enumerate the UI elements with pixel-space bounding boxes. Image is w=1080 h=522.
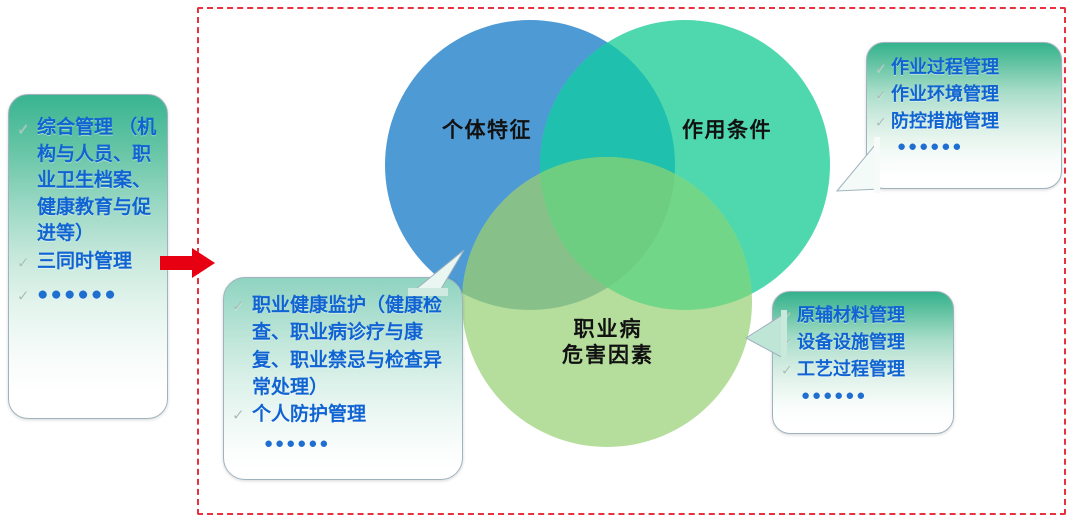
checkmark-icon: ✓	[17, 119, 30, 140]
checkmark-icon: ✓	[781, 360, 793, 381]
checkmark-icon: ✓	[875, 58, 887, 79]
venn-label-hazard: 职业病 危害因素	[533, 317, 683, 370]
callout-list: ✓ 职业健康监护（健康检查、职业病诊疗与康复、职业禁忌与检查异常处理） ✓ 个人…	[224, 278, 462, 454]
list-item: ✓ 职业健康监护（健康检查、职业病诊疗与康复、职业禁忌与检查异常处理）	[232, 292, 454, 401]
callout-comprehensive-management[interactable]: ✓ 综合管理 （机构与人员、职业卫生档案、健康教育与促进等） ✓ 三同时管理 ✓…	[8, 94, 168, 419]
callout-tail-bottomright	[745, 310, 787, 362]
list-item: ✓ 作业环境管理	[875, 81, 1055, 108]
callout-tail-topright	[836, 137, 880, 193]
arrow-right-icon	[160, 246, 216, 280]
callout-list: ✓ 原辅材料管理 ✓ 设备设施管理 ✓ 工艺过程管理 ●●●●●●	[773, 292, 953, 408]
callout-operation-management[interactable]: ✓ 作业过程管理 ✓ 作业环境管理 ✓ 防控措施管理 ●●●●●●	[866, 42, 1062, 189]
list-item: ✓ 设备设施管理	[781, 329, 947, 356]
list-item: ●●●●●●	[232, 433, 454, 455]
list-item: ✓ ●●●●●●	[17, 282, 159, 309]
list-item-label: 职业健康监护（健康检查、职业病诊疗与康复、职业禁忌与检查异常处理）	[252, 295, 442, 398]
callout-list: ✓ 综合管理 （机构与人员、职业卫生档案、健康教育与促进等） ✓ 三同时管理 ✓…	[9, 95, 167, 308]
callout-tail-bottomleft	[408, 250, 468, 296]
ellipsis-dots: ●●●●●●	[264, 435, 330, 452]
venn-label-conditions: 作用条件	[657, 118, 797, 144]
list-item-label: 个人防护管理	[252, 404, 366, 425]
list-item: ✓ 工艺过程管理	[781, 356, 947, 383]
checkmark-icon: ✓	[17, 253, 30, 274]
list-item: ✓ 防控措施管理	[875, 108, 1055, 135]
list-item: ✓ 原辅材料管理	[781, 302, 947, 329]
list-item-label: 设备设施管理	[797, 332, 905, 352]
list-item-label: 作业环境管理	[891, 84, 999, 104]
list-item-label: 综合管理 （机构与人员、职业卫生档案、健康教育与促进等）	[37, 117, 156, 244]
checkmark-icon: ✓	[232, 405, 245, 427]
callout-occupational-health-surveillance[interactable]: ✓ 职业健康监护（健康检查、职业病诊疗与康复、职业禁忌与检查异常处理） ✓ 个人…	[223, 277, 463, 480]
ellipsis-dots: ●●●●●●	[897, 138, 963, 155]
checkmark-icon: ✓	[875, 85, 887, 106]
list-item-label: 工艺过程管理	[797, 359, 905, 379]
list-item-label: 原辅材料管理	[797, 305, 905, 325]
list-item: ●●●●●●	[781, 385, 947, 408]
list-item: ✓ 作业过程管理	[875, 54, 1055, 81]
venn-label-individual: 个体特征	[417, 118, 557, 144]
list-item: ✓ 个人防护管理	[232, 401, 454, 428]
callout-material-equipment-management[interactable]: ✓ 原辅材料管理 ✓ 设备设施管理 ✓ 工艺过程管理 ●●●●●●	[772, 291, 954, 434]
ellipsis-dots: ●●●●●●	[37, 284, 118, 305]
checkmark-icon: ✓	[232, 296, 245, 318]
list-item-label: 防控措施管理	[891, 111, 999, 131]
callout-list: ✓ 作业过程管理 ✓ 作业环境管理 ✓ 防控措施管理 ●●●●●●	[867, 43, 1061, 159]
list-item-label: 三同时管理	[37, 251, 132, 272]
ellipsis-dots: ●●●●●●	[801, 387, 867, 404]
list-item-label: 作业过程管理	[891, 57, 999, 77]
list-item: ✓ 三同时管理	[17, 249, 159, 276]
list-item: ●●●●●●	[875, 136, 1055, 159]
list-item: ✓ 综合管理 （机构与人员、职业卫生档案、健康教育与促进等）	[17, 115, 159, 248]
checkmark-icon: ✓	[875, 112, 887, 133]
checkmark-icon: ✓	[17, 286, 30, 307]
